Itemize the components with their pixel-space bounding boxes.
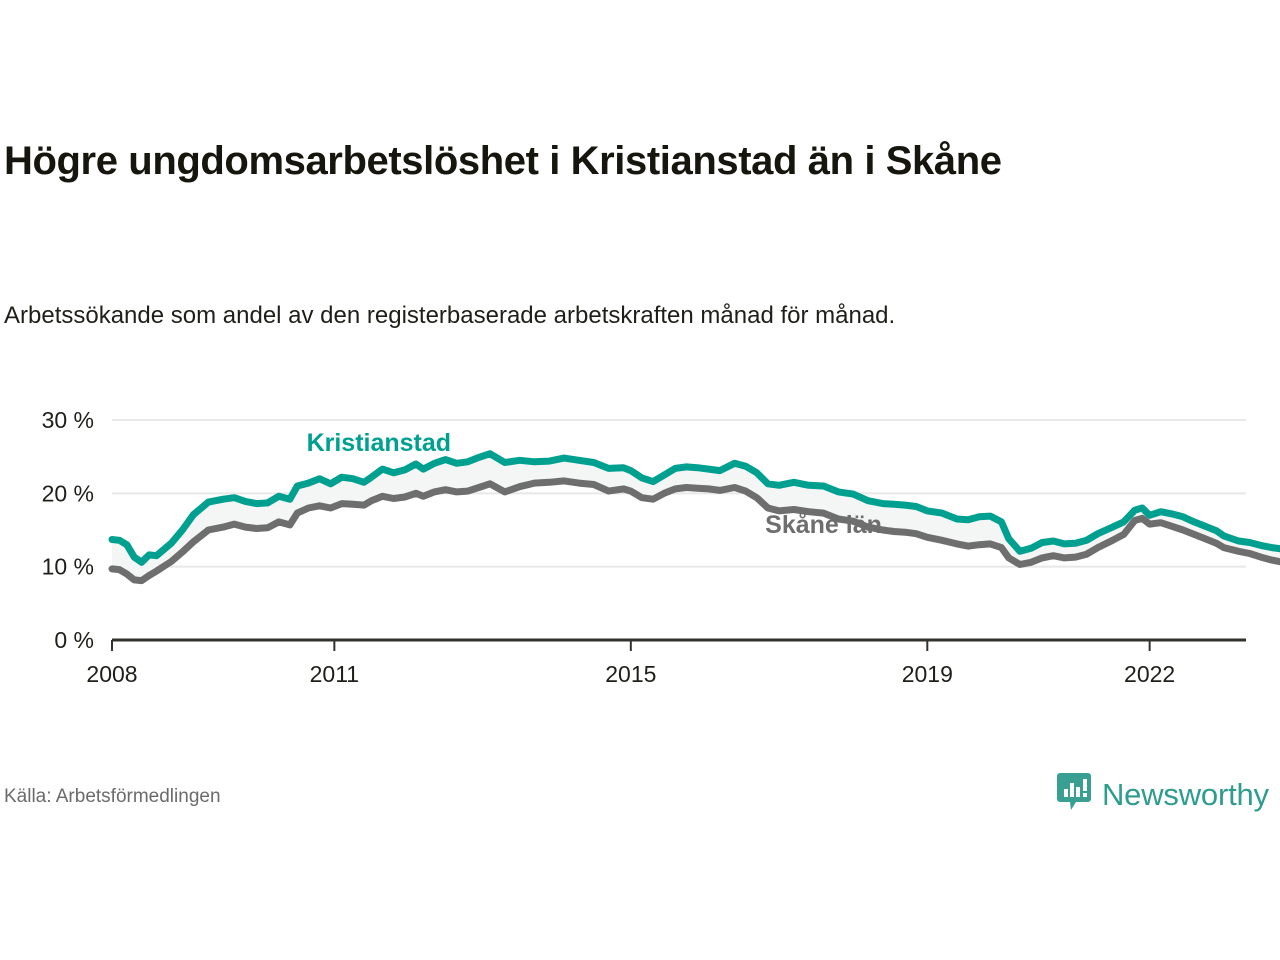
series-name-label: Kristianstad xyxy=(307,429,451,457)
series-lines xyxy=(112,454,1280,581)
y-axis-labels: 0 %10 %20 %30 % xyxy=(42,407,94,653)
chart-bubble-icon xyxy=(1056,772,1092,817)
logo-wordmark: Newsworthy xyxy=(1102,777,1269,813)
series-band xyxy=(112,454,1280,581)
line-chart: 0 %10 %20 %30 % KristianstadSkåne län 12… xyxy=(0,398,1280,698)
chart-page: Högre ungdomsarbetslöshet i Kristianstad… xyxy=(0,0,1280,960)
y-axis-tick-label: 0 % xyxy=(54,627,94,653)
y-axis-tick-label: 20 % xyxy=(42,480,94,506)
page-subtitle: Arbetssökande som andel av den registerb… xyxy=(4,300,1184,332)
gridlines xyxy=(112,420,1246,640)
y-axis-tick-label: 30 % xyxy=(42,407,94,433)
page-title: Högre ungdomsarbetslöshet i Kristianstad… xyxy=(4,138,1254,184)
newsworthy-logo[interactable]: Newsworthy xyxy=(1056,772,1269,817)
series-name-label: Skåne län xyxy=(765,511,882,539)
y-axis-tick-label: 10 % xyxy=(42,554,94,580)
x-axis-labels: 20082011201520192022 xyxy=(86,661,1175,687)
chart-canvas: 0 %10 %20 %30 % KristianstadSkåne län 12… xyxy=(0,398,1280,698)
x-axis-tick-label: 2015 xyxy=(605,661,656,687)
x-axis-tick-label: 2011 xyxy=(310,661,359,687)
x-axis xyxy=(112,640,1150,651)
x-axis-tick-label: 2022 xyxy=(1124,661,1175,687)
source-note: Källa: Arbetsförmedlingen xyxy=(4,786,221,808)
x-axis-tick-label: 2008 xyxy=(86,661,137,687)
x-axis-tick-label: 2019 xyxy=(902,661,953,687)
